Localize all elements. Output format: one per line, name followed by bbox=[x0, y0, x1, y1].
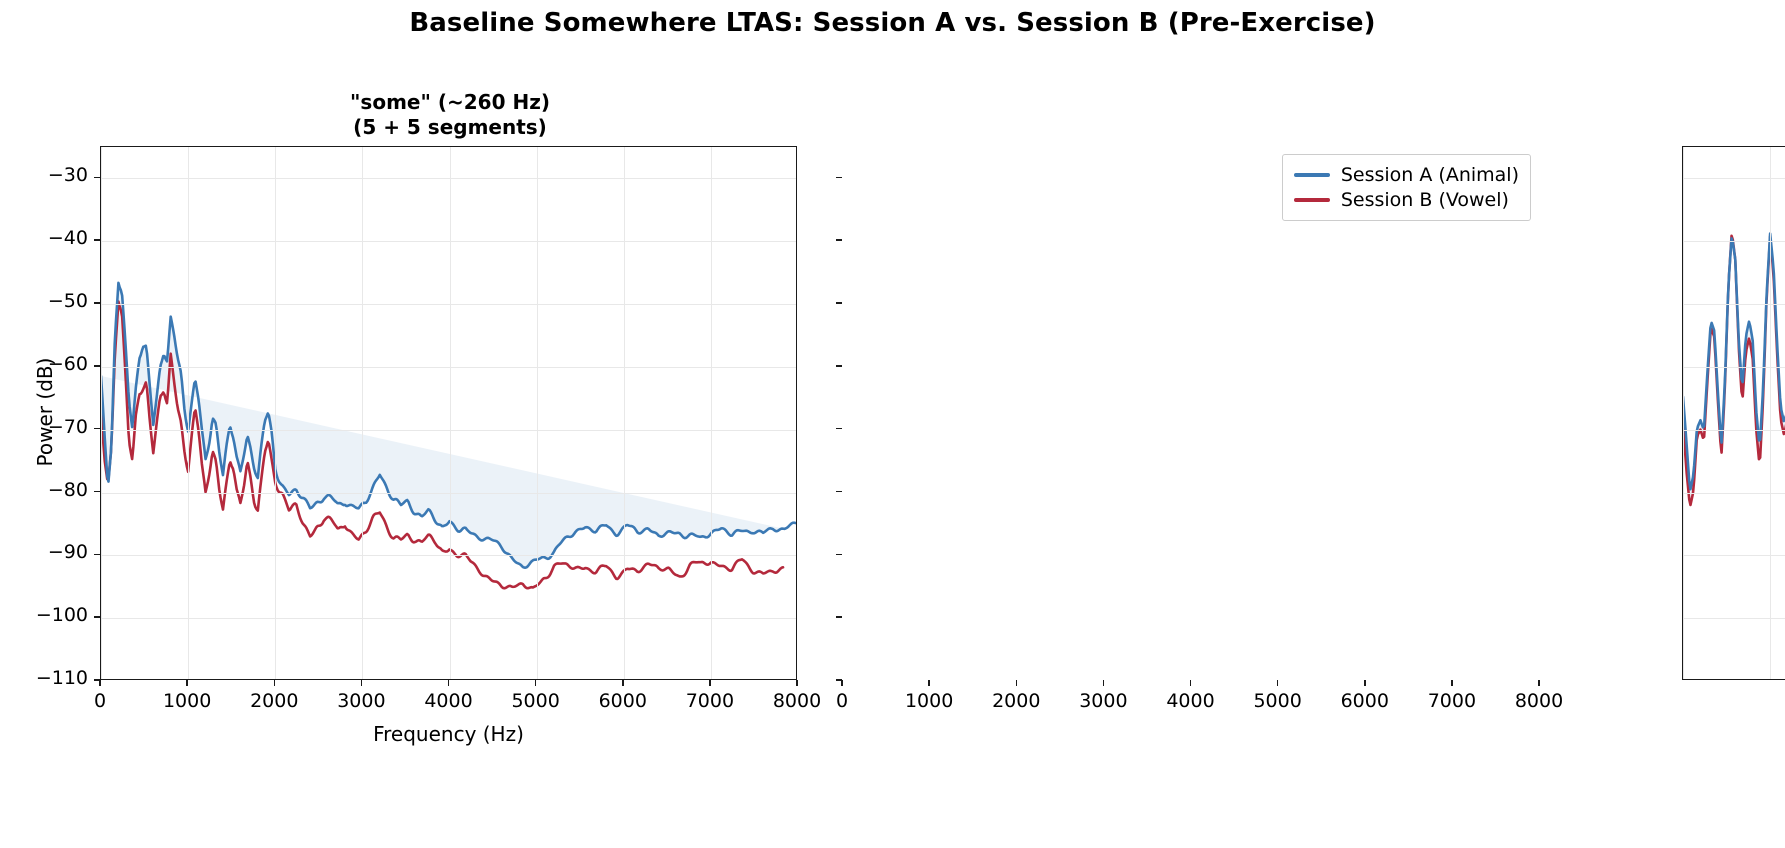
legend-item-session-a[interactable]: Session A (Animal) bbox=[1294, 162, 1519, 187]
x-tick-mark bbox=[1364, 680, 1366, 686]
y-tick-label: −40 bbox=[4, 227, 88, 249]
y-tick-mark bbox=[94, 239, 100, 241]
y-tick-mark bbox=[836, 554, 842, 556]
gridline-vertical bbox=[101, 147, 102, 679]
y-tick-mark bbox=[836, 616, 842, 618]
y-tick-mark bbox=[836, 239, 842, 241]
x-tick-mark bbox=[1103, 680, 1105, 686]
y-tick-mark bbox=[94, 428, 100, 430]
x-tick-label: 2000 bbox=[971, 690, 1061, 712]
x-tick-label: 0 bbox=[55, 690, 145, 712]
x-tick-mark bbox=[709, 680, 711, 686]
y-tick-mark bbox=[836, 302, 842, 304]
legend-item-session-b[interactable]: Session B (Vowel) bbox=[1294, 187, 1519, 212]
gridline-vertical bbox=[711, 147, 712, 679]
y-tick-mark bbox=[836, 177, 842, 179]
x-tick-mark bbox=[841, 680, 843, 686]
legend-swatch-session-b bbox=[1294, 198, 1330, 202]
figure-canvas: Baseline Somewhere LTAS: Session A vs. S… bbox=[0, 0, 1785, 848]
x-tick-label: 4000 bbox=[404, 690, 494, 712]
gridline-vertical bbox=[275, 147, 276, 679]
gridline-horizontal bbox=[101, 304, 796, 305]
x-tick-label: 5000 bbox=[491, 690, 581, 712]
gridline-horizontal bbox=[101, 430, 796, 431]
subplot-title-some: "some" (~260 Hz) (5 + 5 segments) bbox=[150, 90, 750, 140]
y-tick-label: −60 bbox=[4, 353, 88, 375]
y-tick-label: −30 bbox=[4, 164, 88, 186]
y-tick-mark bbox=[94, 491, 100, 493]
y-tick-label: −80 bbox=[4, 479, 88, 501]
x-tick-mark bbox=[1190, 680, 1192, 686]
x-tick-mark bbox=[535, 680, 537, 686]
x-tick-label: 7000 bbox=[665, 690, 755, 712]
gridline-horizontal bbox=[101, 367, 796, 368]
plot-area-some bbox=[100, 146, 797, 680]
y-tick-label: −110 bbox=[4, 667, 88, 689]
y-tick-mark bbox=[94, 554, 100, 556]
gridline-horizontal bbox=[101, 178, 796, 179]
x-tick-label: 0 bbox=[797, 690, 887, 712]
x-tick-label: 6000 bbox=[1320, 690, 1410, 712]
y-tick-label: −100 bbox=[4, 604, 88, 626]
gridline-vertical bbox=[1683, 147, 1684, 679]
gridline-vertical bbox=[537, 147, 538, 679]
y-tick-mark bbox=[94, 177, 100, 179]
y-tick-mark bbox=[94, 616, 100, 618]
x-tick-mark bbox=[186, 680, 188, 686]
gridline-vertical bbox=[188, 147, 189, 679]
x-tick-label: 1000 bbox=[884, 690, 974, 712]
x-tick-label: 1000 bbox=[142, 690, 232, 712]
x-tick-label: 3000 bbox=[1058, 690, 1148, 712]
x-tick-label: 4000 bbox=[1146, 690, 1236, 712]
x-tick-mark bbox=[448, 680, 450, 686]
gridline-vertical bbox=[362, 147, 363, 679]
legend-where[interactable]: Session A (Animal) Session B (Vowel) bbox=[1282, 154, 1531, 221]
x-tick-label: 7000 bbox=[1407, 690, 1497, 712]
y-tick-mark bbox=[94, 302, 100, 304]
x-tick-label: 3000 bbox=[316, 690, 406, 712]
x-tick-mark bbox=[928, 680, 930, 686]
x-tick-mark bbox=[1538, 680, 1540, 686]
y-tick-mark bbox=[836, 428, 842, 430]
y-tick-mark bbox=[836, 491, 842, 493]
gridline-vertical bbox=[624, 147, 625, 679]
x-tick-label: 8000 bbox=[1494, 690, 1584, 712]
x-tick-mark bbox=[796, 680, 798, 686]
x-tick-label: 2000 bbox=[229, 690, 319, 712]
gridline-horizontal bbox=[101, 241, 796, 242]
gridline-horizontal bbox=[101, 493, 796, 494]
x-tick-mark bbox=[99, 680, 101, 686]
x-tick-label: 5000 bbox=[1233, 690, 1323, 712]
y-tick-mark bbox=[94, 365, 100, 367]
gridline-vertical bbox=[1770, 147, 1771, 679]
x-tick-mark bbox=[1277, 680, 1279, 686]
x-tick-mark bbox=[1451, 680, 1453, 686]
subplot-title-where: "where" (~520 Hz) (5 + 5 segments) bbox=[1730, 90, 1785, 140]
x-tick-mark bbox=[622, 680, 624, 686]
subplot-some: "some" (~260 Hz) (5 + 5 segments) Power … bbox=[0, 0, 900, 848]
x-axis-label-some: Frequency (Hz) bbox=[249, 722, 649, 746]
x-tick-mark bbox=[361, 680, 363, 686]
x-tick-label: 6000 bbox=[578, 690, 668, 712]
plot-area-where bbox=[1682, 146, 1785, 680]
legend-swatch-session-a bbox=[1294, 173, 1330, 177]
y-tick-label: −50 bbox=[4, 290, 88, 312]
subplot-where: "where" (~520 Hz) (5 + 5 segments) Frequ… bbox=[840, 0, 1785, 848]
gridline-vertical bbox=[450, 147, 451, 679]
x-tick-mark bbox=[1016, 680, 1018, 686]
y-tick-label: −70 bbox=[4, 416, 88, 438]
x-tick-mark bbox=[274, 680, 276, 686]
y-tick-label: −90 bbox=[4, 541, 88, 563]
gridline-horizontal bbox=[101, 618, 796, 619]
gridline-horizontal bbox=[101, 555, 796, 556]
legend-label-session-a: Session A (Animal) bbox=[1341, 164, 1519, 186]
y-tick-mark bbox=[836, 365, 842, 367]
legend-label-session-b: Session B (Vowel) bbox=[1341, 189, 1509, 211]
